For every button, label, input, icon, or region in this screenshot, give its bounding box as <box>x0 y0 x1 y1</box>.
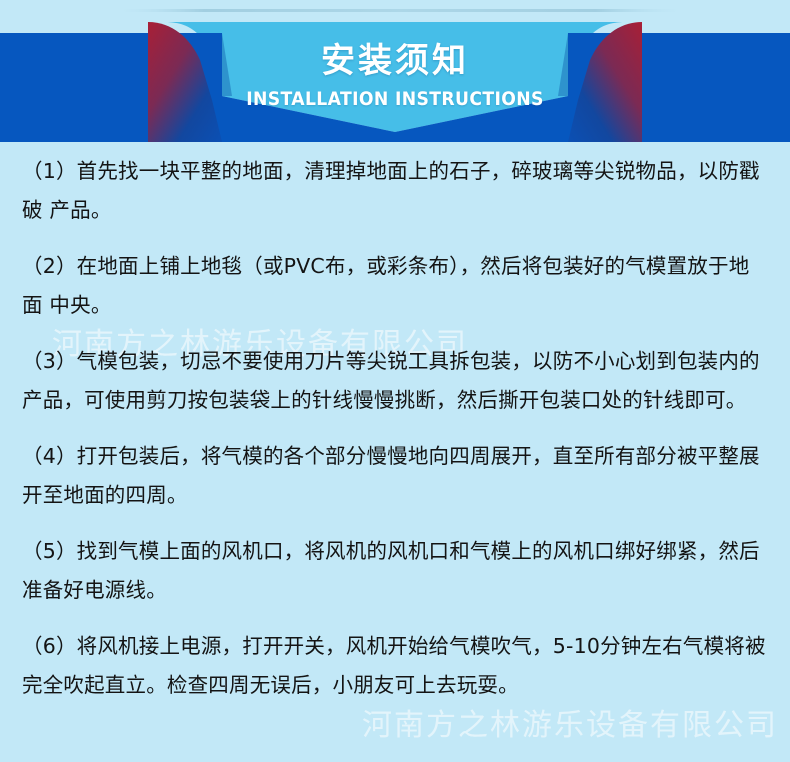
banner-top-shadow <box>120 9 680 12</box>
watermark-text-middle: 河南方之林游乐设备有限公司 <box>362 700 778 744</box>
instructions-content: 河南方之林游乐设备有限公司 河南方之林游乐设备有限公司 （1）首先找一块平整的地… <box>0 142 790 705</box>
instruction-step-5: （5）找到气模上面的风机口，将风机的风机口和气模上的风机口绑好绑紧，然后准备好电… <box>22 532 768 610</box>
instruction-step-2: （2）在地面上铺上地毯（或PVC布，或彩条布），然后将包装好的气模置放于地面 中… <box>22 247 768 325</box>
installation-banner: 安装须知 INSTALLATION INSTRUCTIONS <box>0 0 790 142</box>
instruction-step-3: （3）气模包装，切忌不要使用刀片等尖锐工具拆包装，以防不小心划到包装内的产品，可… <box>22 342 768 420</box>
banner-ribbon-graphic <box>0 0 790 142</box>
instruction-step-1: （1）首先找一块平整的地面，清理掉地面上的石子，碎玻璃等尖锐物品，以防戳破 产品… <box>22 152 768 230</box>
instruction-step-4: （4）打开包装后，将气模的各个部分慢慢地向四周展开，直至所有部分被平整展开至地面… <box>22 437 768 515</box>
instruction-step-6: （6）将风机接上电源，打开开关，风机开始给气模吹气，5-10分钟左右气模将被完全… <box>22 627 768 705</box>
